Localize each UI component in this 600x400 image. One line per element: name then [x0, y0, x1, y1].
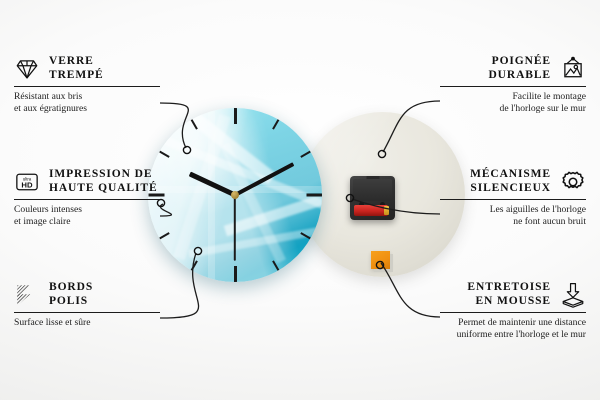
clock-tick-12: [234, 108, 237, 124]
feature-title: ENTRETOISE EN MOUSSE: [467, 281, 551, 308]
feature-title: MÉCANISME SILENCIEUX: [470, 168, 551, 195]
feature-mecanisme-silencieux: MÉCANISME SILENCIEUX Les aiguilles de l'…: [371, 168, 586, 227]
feature-description: Permet de maintenir une distance uniform…: [371, 317, 586, 340]
feature-header: POIGNÉE DURABLE: [371, 55, 586, 82]
gear-icon: [560, 169, 586, 195]
feature-header: ENTRETOISE EN MOUSSE: [371, 281, 586, 308]
feature-poignee-durable: POIGNÉE DURABLE Facilite le montage de l…: [371, 55, 586, 114]
feature-title: BORDS POLIS: [49, 281, 93, 308]
clock-center-cap: [231, 191, 239, 199]
feature-bords-polis: BORDS POLIS Surface lisse et sûre: [14, 281, 229, 329]
divider: [440, 312, 586, 313]
feature-description: Résistant aux bris et aux égratignures: [14, 91, 229, 114]
feature-verre-trempe: VERRE TREMPÉ Résistant aux bris et aux é…: [14, 55, 229, 114]
divider: [14, 86, 160, 87]
divider: [14, 312, 160, 313]
foam-spacer: [371, 251, 390, 269]
divider: [440, 86, 586, 87]
feature-header: VERRE TREMPÉ: [14, 55, 229, 82]
feature-header: BORDS POLIS: [14, 281, 229, 308]
feature-description: Couleurs intenses et image claire: [14, 204, 229, 227]
feature-header: MÉCANISME SILENCIEUX: [371, 168, 586, 195]
feature-title: POIGNÉE DURABLE: [488, 55, 551, 82]
clock-tick-6: [234, 266, 237, 282]
feature-impression-haute-qualite: ultra HD IMPRESSION DE HAUTE QUALITÉ Cou…: [14, 168, 229, 227]
feature-description: Les aiguilles de l'horloge ne font aucun…: [371, 204, 586, 227]
feature-header: ultra HD IMPRESSION DE HAUTE QUALITÉ: [14, 168, 229, 195]
clock-tick-3: [306, 194, 322, 197]
picture-hanger-icon: [560, 56, 586, 82]
feature-description: Surface lisse et sûre: [14, 317, 229, 328]
ultra-hd-icon: ultra HD: [14, 169, 40, 195]
foam-spacer-icon: [560, 282, 586, 308]
feature-title: VERRE TREMPÉ: [49, 55, 104, 82]
divider: [14, 199, 160, 200]
svg-text:HD: HD: [21, 180, 33, 189]
feature-title: IMPRESSION DE HAUTE QUALITÉ: [49, 168, 158, 195]
feature-description: Facilite le montage de l'horloge sur le …: [371, 91, 586, 114]
divider: [440, 199, 586, 200]
polished-edges-icon: [14, 282, 40, 308]
feature-entretoise-en-mousse: ENTRETOISE EN MOUSSE Permet de maintenir…: [371, 281, 586, 340]
diamond-icon: [14, 56, 40, 82]
clock-second-hand: [234, 195, 236, 261]
